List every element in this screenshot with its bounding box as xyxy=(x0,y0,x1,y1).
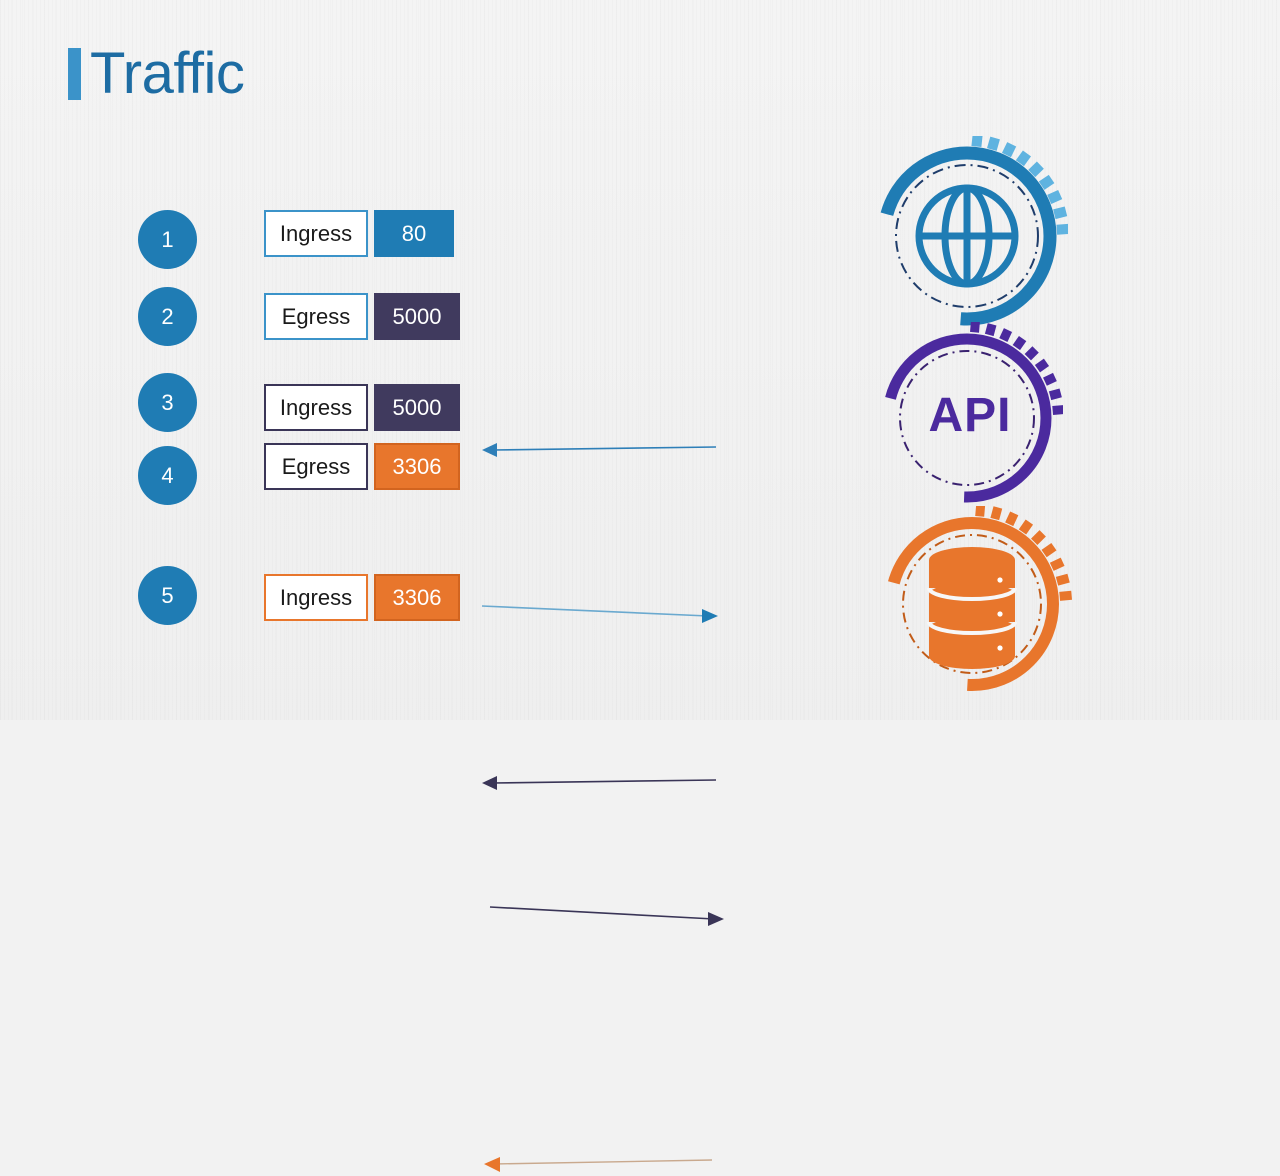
traffic-rule-2[interactable]: Egress 5000 xyxy=(264,293,460,340)
rule-direction-label: Egress xyxy=(264,443,368,490)
row-number-badge: 1 xyxy=(138,210,197,269)
flow-arrow-4 xyxy=(486,898,730,926)
title-accent-bar xyxy=(68,48,81,100)
traffic-rule-3[interactable]: Ingress 5000 xyxy=(264,384,460,431)
rule-direction-label: Ingress xyxy=(264,210,368,257)
globe-icon xyxy=(872,136,1068,332)
rule-port-badge: 3306 xyxy=(374,574,460,621)
rule-port-badge: 5000 xyxy=(374,293,460,340)
traffic-rule-1[interactable]: Ingress 80 xyxy=(264,210,454,257)
title-label: Traffic xyxy=(90,45,244,103)
traffic-rule-4[interactable]: Egress 3306 xyxy=(264,443,460,490)
traffic-row-3: 3 Ingress 5000 xyxy=(0,373,1280,429)
traffic-rule-5[interactable]: Ingress 3306 xyxy=(264,574,460,621)
rule-port-badge: 3306 xyxy=(374,443,460,490)
traffic-row-4: 4 Egress 3306 xyxy=(0,446,1280,502)
traffic-row-5: 5 Ingress 3306 xyxy=(0,566,1280,622)
row-number-badge: 3 xyxy=(138,373,197,432)
rule-port-badge: 80 xyxy=(374,210,454,257)
row-number-badge: 2 xyxy=(138,287,197,346)
rule-direction-label: Ingress xyxy=(264,384,368,431)
flow-arrow-5 xyxy=(480,1150,716,1176)
traffic-row-1: 1 Ingress 80 xyxy=(0,210,1280,266)
rule-direction-label: Ingress xyxy=(264,574,368,621)
traffic-row-2: 2 Egress 5000 xyxy=(0,287,1280,343)
row-number-badge: 5 xyxy=(138,566,197,625)
rule-direction-label: Egress xyxy=(264,293,368,340)
rule-port-badge: 5000 xyxy=(374,384,460,431)
page-title: Traffic xyxy=(68,38,244,110)
api-icon-label: API xyxy=(877,322,1063,508)
row-number-badge: 4 xyxy=(138,446,197,505)
database-icon xyxy=(880,506,1072,698)
api-icon: API xyxy=(877,322,1063,508)
flow-arrow-3 xyxy=(478,769,722,795)
